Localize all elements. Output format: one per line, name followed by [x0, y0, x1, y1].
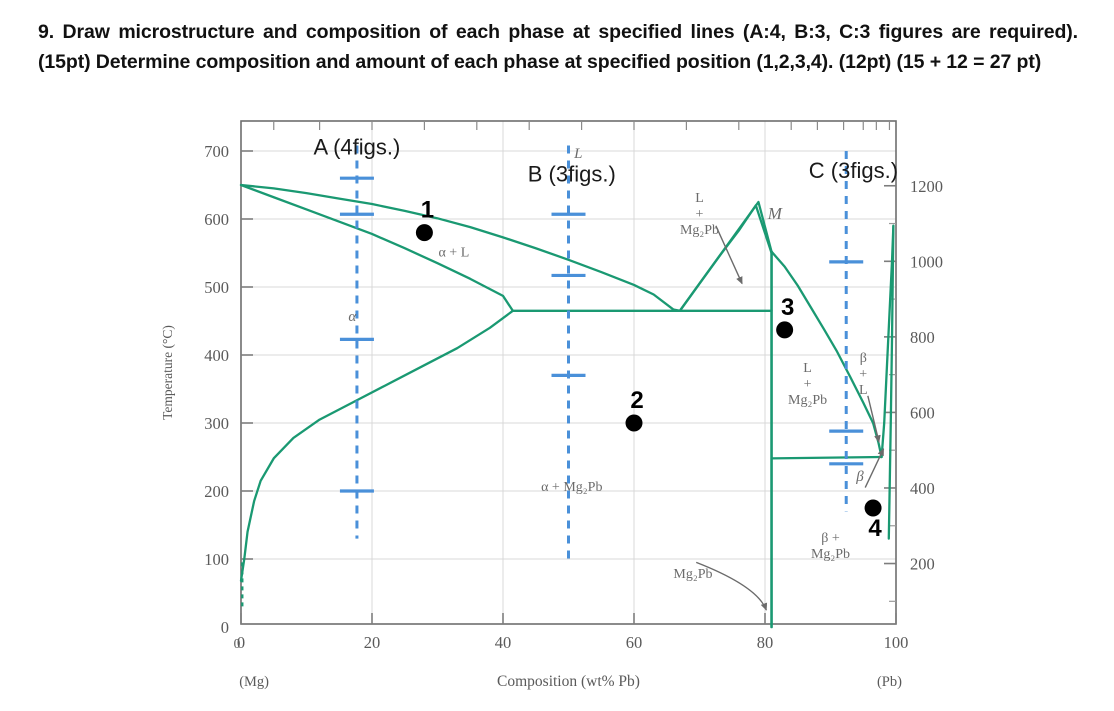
annotation-L-plus-Mg2Pb-right: L+Mg₂Pb: [788, 361, 827, 408]
y-axis-label-right: 800: [910, 328, 935, 347]
annotation-beta-plus-Mg2Pb: β +Mg₂Pb: [811, 531, 850, 562]
mg-pb-phase-diagram: 0100200300400500600700200400600800100012…: [0, 108, 1114, 711]
annotation-alpha-plus-Mg2Pb: α + Mg₂Pb: [541, 480, 602, 495]
curve-solidus-alpha: [241, 185, 513, 311]
data-point-marker-1[interactable]: [416, 224, 433, 241]
x-axis-label: 100: [884, 633, 909, 652]
annotation-liquid-region: L: [573, 146, 582, 162]
y-axis-label-left: 500: [204, 278, 229, 297]
y-axis-label-left: 300: [204, 414, 229, 433]
data-point-label-1: 1: [421, 197, 434, 224]
curve-eutectic-isotherm-right: [772, 457, 882, 458]
x-axis-label: 60: [626, 633, 643, 652]
y-axis-label-right: 200: [910, 555, 935, 574]
curve-liquidus-Mg2Pb-left: [680, 202, 772, 311]
guide-caption-a: A (4figs.): [314, 134, 401, 159]
y-axis-label-left: 0: [221, 618, 229, 637]
y-axis-label-right: 400: [910, 479, 935, 498]
x-axis-endpoint-right: (Pb): [877, 674, 902, 690]
x-axis-label: 40: [495, 633, 512, 652]
annotation-L-plus-Mg2Pb-left: L+Mg₂Pb: [680, 191, 719, 238]
annotation-Mg2Pb-compound-label: Mg₂Pb: [673, 567, 712, 582]
x-axis-endpoint-left: (Mg): [239, 674, 269, 690]
question-body: 9. Draw microstructure and composition o…: [38, 21, 1078, 73]
data-point-marker-2[interactable]: [626, 415, 643, 432]
y-axis-label-right: 600: [910, 403, 935, 422]
data-point-label-2: 2: [630, 387, 643, 414]
y-axis-label-left: 700: [204, 142, 229, 161]
annotation-beta-label: β: [855, 469, 864, 485]
data-point-label-4: 4: [868, 515, 882, 542]
y-axis-label-right: 1200: [910, 177, 943, 196]
leader-beta-plus-L: [868, 396, 879, 442]
leader-beta: [865, 449, 883, 488]
annotation-alpha-region: α: [348, 309, 357, 325]
annotation-alpha-plus-L-region: α + L: [438, 245, 469, 260]
guide-caption-b: B (3figs.): [528, 162, 616, 187]
annotation-beta-plus-L: β+L: [859, 351, 868, 398]
y-axis-label-left: 600: [204, 210, 229, 229]
data-point-label-3: 3: [781, 294, 794, 321]
annotation-M-peak-label: M: [767, 204, 783, 223]
curve-Mg2Pb-peak-M: [680, 205, 772, 310]
y-axis-label-left: 100: [204, 550, 229, 569]
x-axis-origin-small: 0: [234, 636, 241, 651]
x-axis-label: 20: [364, 633, 381, 652]
data-point-marker-3[interactable]: [776, 321, 793, 338]
phase-diagram-figure: 0100200300400500600700200400600800100012…: [0, 108, 1114, 711]
y-axis-label-left: 200: [204, 482, 229, 501]
curve-alpha-solvus: [241, 311, 513, 581]
y-axis-label-left: 400: [204, 346, 229, 365]
data-point-marker-4[interactable]: [865, 500, 882, 517]
y-axis-title: Temperature (°C): [160, 325, 175, 420]
y-axis-label-right: 1000: [910, 252, 943, 271]
x-axis-label: 80: [757, 633, 774, 652]
question-text: 9. Draw microstructure and composition o…: [38, 18, 1078, 77]
guide-caption-c: C (3figs.): [809, 158, 898, 183]
x-axis-title: Composition (wt% Pb): [497, 673, 640, 690]
